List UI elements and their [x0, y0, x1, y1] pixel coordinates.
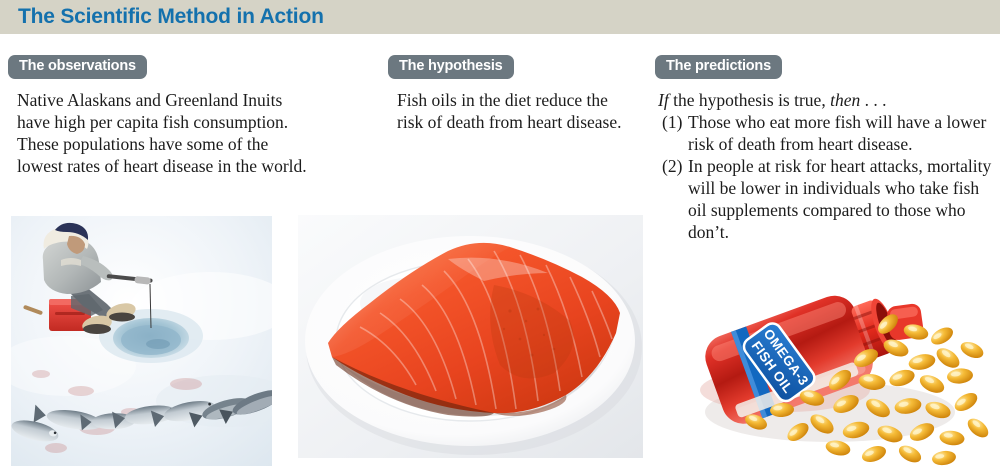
list-item: (1)Those who eat more fish will have a l…	[658, 111, 994, 155]
fish-oil-illustration: OMEGA-3 FISH OIL	[690, 262, 990, 466]
prediction-number: (1)	[662, 111, 682, 133]
predictions-lead-if: If	[658, 90, 669, 110]
badge-predictions: The predictions	[655, 55, 782, 79]
predictions-lead-mid: the hypothesis is true,	[669, 90, 830, 110]
hypothesis-text: Fish oils in the diet reduce the risk of…	[388, 89, 627, 133]
title-banner: The Scientific Method in Action	[0, 0, 1000, 34]
badge-hypothesis: The hypothesis	[388, 55, 514, 79]
prediction-text: In people at risk for heart attacks, mor…	[688, 156, 991, 242]
predictions-lead-then: then	[830, 90, 860, 110]
badge-observations: The observations	[8, 55, 147, 79]
column-observations: The observations Native Alaskans and Gre…	[8, 55, 328, 177]
predictions-text: If the hypothesis is true, then . . . (1…	[655, 89, 994, 243]
observations-text: Native Alaskans and Greenland Inuits hav…	[8, 89, 317, 177]
prediction-text: Those who eat more fish will have a lowe…	[688, 112, 986, 154]
column-hypothesis: The hypothesis Fish oils in the diet red…	[388, 55, 658, 133]
list-item: (2)In people at risk for heart attacks, …	[658, 155, 994, 243]
photo-salmon-fillet	[298, 215, 643, 458]
ice-fishing-illustration	[11, 216, 272, 466]
predictions-list: (1)Those who eat more fish will have a l…	[658, 111, 994, 243]
prediction-number: (2)	[662, 155, 682, 177]
photo-fish-oil-bottle: OMEGA-3 FISH OIL	[690, 262, 990, 466]
column-predictions: The predictions If the hypothesis is tru…	[655, 55, 995, 243]
predictions-lead: If the hypothesis is true, then . . .	[658, 89, 994, 111]
salmon-illustration	[298, 215, 643, 458]
page-title: The Scientific Method in Action	[18, 5, 324, 29]
photo-ice-fishing	[11, 216, 272, 466]
predictions-lead-end: . . .	[860, 90, 886, 110]
